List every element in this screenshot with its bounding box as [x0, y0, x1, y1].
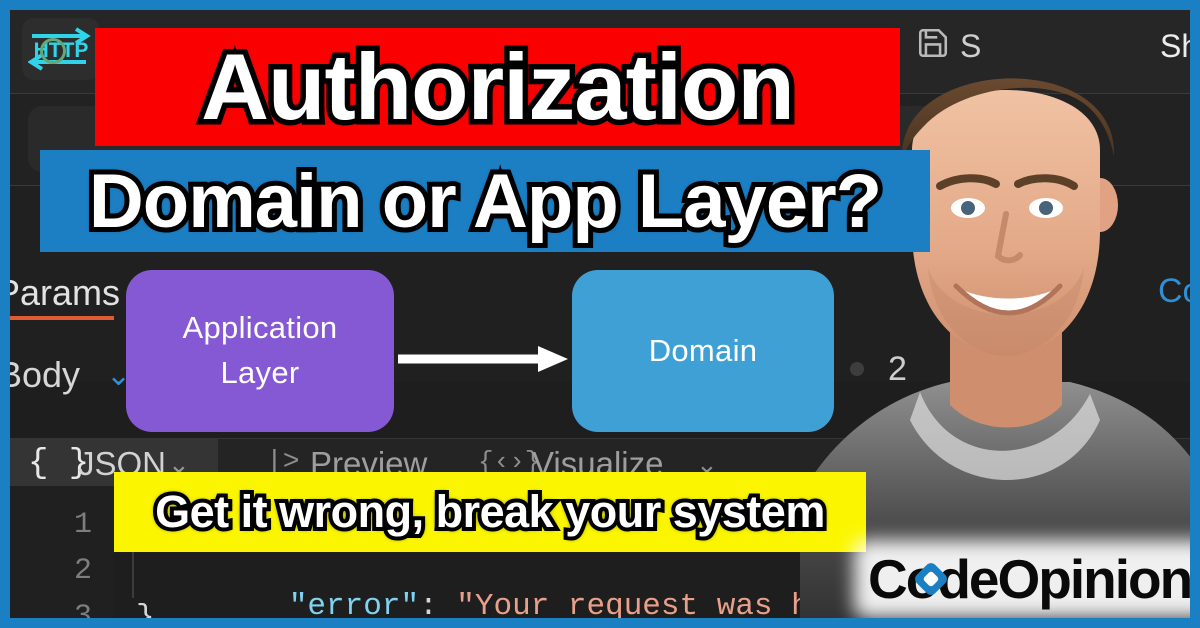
- node-label-line2: Layer: [183, 351, 338, 396]
- node-label-line1: Application: [183, 306, 338, 351]
- title-banner-tagline: Get it wrong, break your system: [114, 472, 866, 552]
- title-banner-primary: Authorization: [95, 28, 900, 146]
- thumbnail-canvas: HTTP Id S Sh Params Body ⌄ Coo 2: [0, 0, 1200, 628]
- title-line-2: Domain or App Layer?: [89, 158, 881, 245]
- title-banner-secondary: Domain or App Layer?: [40, 150, 930, 252]
- codeopinion-logo: CodeOpinion: [868, 546, 1198, 612]
- arrow-right-icon: [398, 344, 568, 374]
- node-label-line1: Domain: [649, 329, 758, 374]
- tagline-text: Get it wrong, break your system: [155, 486, 825, 538]
- diagram-node-application-layer: Application Layer: [126, 270, 394, 432]
- title-line-1: Authorization: [201, 33, 794, 141]
- diagram-node-domain: Domain: [572, 270, 834, 432]
